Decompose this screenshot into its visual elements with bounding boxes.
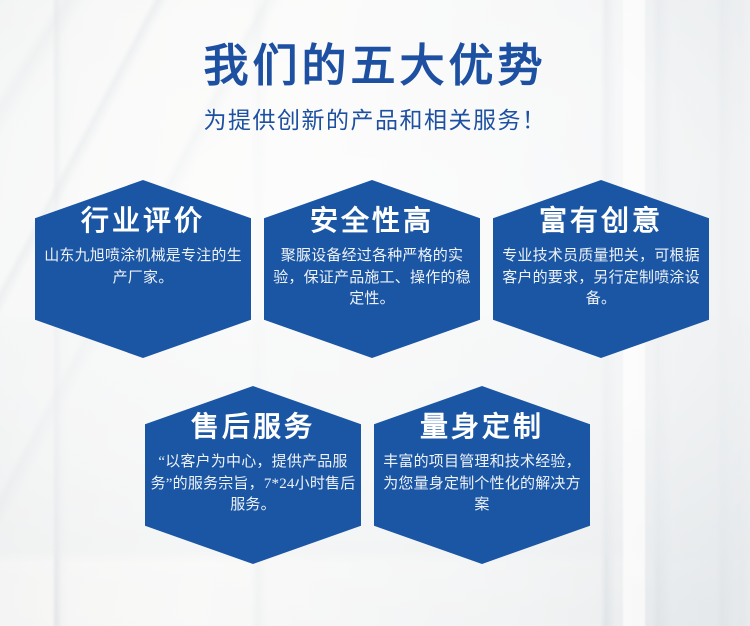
advantage-hex-high-safety[interactable]: 安全性高 聚脲设备经过各种严格的实验，保证产品施工、操作的稳定性。: [264, 180, 480, 358]
page-title: 我们的五大优势: [0, 0, 750, 91]
advantage-title: 量身定制: [420, 412, 544, 443]
advantage-title: 行业评价: [81, 206, 205, 237]
advantage-hex-industry-reputation[interactable]: 行业评价 山东九旭喷涂机械是专注的生产厂家。: [35, 180, 251, 358]
page-subtitle: 为提供创新的产品和相关服务！: [0, 91, 750, 135]
advantage-hex-content: 量身定制 丰富的项目管理和技术经验，为您量身定制个性化的解决方案: [374, 386, 590, 564]
advantage-description: 专业技术员质量把关，可根据客户的要求，另行定制喷涂设备。: [498, 246, 704, 311]
advantage-description: 山东九旭喷涂机械是专注的生产厂家。: [43, 246, 243, 290]
advantage-hex-tailor-made[interactable]: 量身定制 丰富的项目管理和技术经验，为您量身定制个性化的解决方案: [374, 386, 590, 564]
advantage-hex-creative[interactable]: 富有创意 专业技术员质量把关，可根据客户的要求，另行定制喷涂设备。: [493, 180, 709, 358]
advantage-hex-content: 安全性高 聚脲设备经过各种严格的实验，保证产品施工、操作的稳定性。: [264, 180, 480, 358]
advantage-description: 聚脲设备经过各种严格的实验，保证产品施工、操作的稳定性。: [269, 246, 475, 311]
advantage-title: 售后服务: [191, 412, 315, 443]
advantage-hex-after-sales-service[interactable]: 售后服务 “以客户为中心，提供产品服务”的服务宗旨，7*24小时售后服务。: [145, 386, 361, 564]
advantage-title: 富有创意: [539, 206, 663, 237]
banner-header: 我们的五大优势 为提供创新的产品和相关服务！: [0, 0, 750, 135]
advantage-hex-content: 行业评价 山东九旭喷涂机械是专注的生产厂家。: [35, 180, 251, 358]
advantages-banner: 我们的五大优势 为提供创新的产品和相关服务！ 行业评价 山东九旭喷涂机械是专注的…: [0, 0, 750, 626]
advantage-hex-content: 售后服务 “以客户为中心，提供产品服务”的服务宗旨，7*24小时售后服务。: [145, 386, 361, 564]
advantage-description: “以客户为中心，提供产品服务”的服务宗旨，7*24小时售后服务。: [150, 452, 356, 517]
advantage-title: 安全性高: [310, 206, 434, 237]
advantage-description: 丰富的项目管理和技术经验，为您量身定制个性化的解决方案: [379, 452, 585, 517]
advantage-hex-content: 富有创意 专业技术员质量把关，可根据客户的要求，另行定制喷涂设备。: [493, 180, 709, 358]
